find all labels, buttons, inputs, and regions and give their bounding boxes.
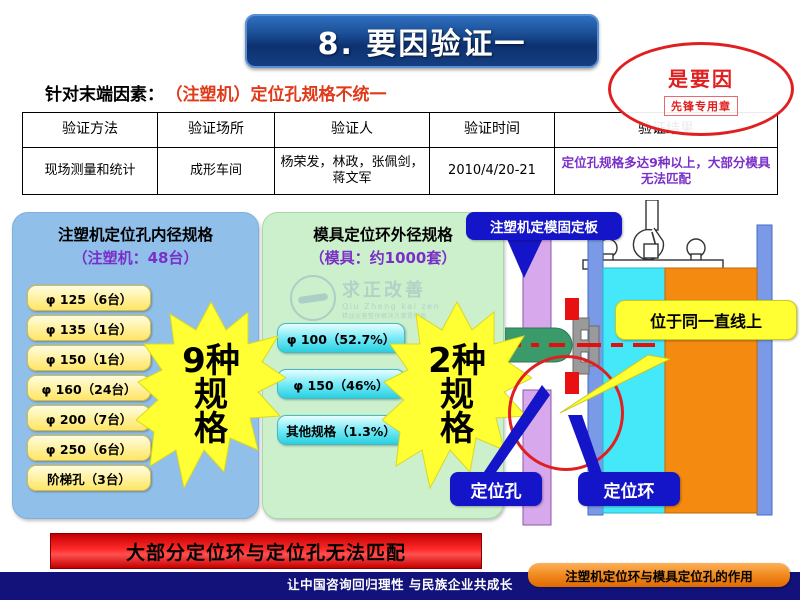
callout-fixed-plate: 注塑机定模固定板 — [466, 212, 622, 240]
starburst-9-specs: 9种 规 格 — [136, 300, 286, 490]
stamp-main-text: 是要因 — [668, 63, 734, 92]
table-cell-place: 成形车间 — [158, 148, 275, 195]
stamp-sub-text: 先锋专用章 — [664, 96, 738, 116]
list-item: φ 200（7台） — [27, 405, 151, 431]
callout-tail-hole — [480, 385, 550, 475]
bottom-caption-text: 注塑机定位环与模具定位孔的作用 — [565, 566, 753, 585]
spec-chip-list-left: φ 125（6台） φ 135（1台） φ 150（1台） φ 160（24台）… — [27, 285, 151, 495]
slide-title-banner: 8. 要因验证一 — [245, 14, 599, 68]
panel-left-title: 注塑机定位孔内径规格 — [13, 223, 258, 245]
callout-locating-hole: 定位孔 — [450, 472, 542, 506]
subtitle-label: 针对末端因素： — [45, 85, 164, 105]
clamp-block-top — [565, 298, 579, 320]
callout-same-line: 位于同一直线上 — [615, 300, 797, 340]
callout-locating-ring-label: 定位环 — [604, 477, 655, 502]
list-item: φ 250（6台） — [27, 435, 151, 461]
callout-locating-ring: 定位环 — [578, 472, 680, 506]
subtitle: 针对末端因素：（注塑机）定位孔规格不统一 — [45, 80, 387, 105]
bottom-caption-tag: 注塑机定位环与模具定位孔的作用 — [528, 563, 790, 587]
conclusion-banner: 大部分定位环与定位孔无法匹配 — [50, 533, 482, 569]
list-item: 阶梯孔（3台） — [27, 465, 151, 491]
callout-tail-line — [560, 355, 670, 415]
tie-bar-right — [757, 225, 772, 515]
starburst-label-right: 2种 规 格 — [428, 344, 486, 446]
panel-left-subtitle: （注塑机：48台） — [13, 247, 258, 268]
list-item: φ 160（24台） — [27, 375, 151, 401]
table-row: 现场测量和统计 成形车间 杨荣发，林政，张佩剑，蒋文军 2010/4/20-21… — [23, 148, 778, 195]
status-badge-stamp: 是要因 先锋专用章 — [608, 42, 794, 136]
page-title: 8. 要因验证一 — [318, 19, 527, 63]
slide-root: 8. 要因验证一 是要因 先锋专用章 针对末端因素：（注塑机）定位孔规格不统一 … — [0, 0, 800, 600]
table-header-time: 验证时间 — [430, 113, 555, 148]
list-item: φ 135（1台） — [27, 315, 151, 341]
table-header-method: 验证方法 — [23, 113, 158, 148]
table-cell-method: 现场测量和统计 — [23, 148, 158, 195]
callout-locating-hole-label: 定位孔 — [471, 477, 522, 502]
panel-right-subtitle: （模具：约1000套） — [263, 247, 503, 268]
table-header-place: 验证场所 — [158, 113, 275, 148]
conclusion-text: 大部分定位环与定位孔无法匹配 — [126, 538, 406, 565]
table-header-person: 验证人 — [275, 113, 430, 148]
callout-fixed-plate-label: 注塑机定模固定板 — [490, 216, 598, 236]
table-cell-person: 杨荣发，林政，张佩剑，蒋文军 — [275, 148, 430, 195]
table-cell-result: 定位孔规格多达9种以上，大部分模具无法匹配 — [555, 148, 778, 195]
starburst-label-left: 9种 规 格 — [182, 344, 240, 446]
subtitle-value: （注塑机）定位孔规格不统一 — [174, 85, 387, 105]
list-item: φ 150（1台） — [27, 345, 151, 371]
table-cell-time: 2010/4/20-21 — [430, 148, 555, 195]
list-item: φ 125（6台） — [27, 285, 151, 311]
callout-same-line-label: 位于同一直线上 — [650, 308, 762, 332]
